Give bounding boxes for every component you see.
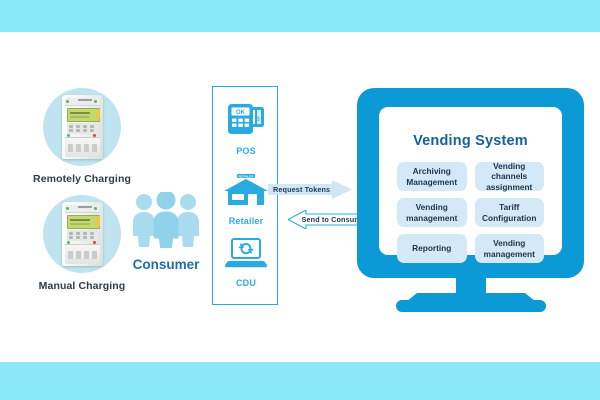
meter-photo-disc: [43, 88, 121, 166]
feature-box[interactable]: Vending channels assignment: [475, 162, 545, 191]
consumer-label: Consumer: [118, 257, 214, 272]
vending-feature-grid: Archiving Management Vending channels as…: [397, 162, 544, 263]
channel-label-pos: POS: [213, 146, 279, 156]
retailer-shop-icon: RETAILER: [222, 173, 270, 209]
feature-box[interactable]: Vending management: [475, 234, 545, 263]
three-people-icon: [129, 192, 203, 248]
consumer-group: Consumer: [118, 192, 214, 272]
feature-box[interactable]: Vending management: [397, 198, 467, 227]
feature-box[interactable]: Tariff Configuration: [475, 198, 545, 227]
meter-caption: Remotely Charging: [22, 173, 142, 185]
feature-box[interactable]: Reporting: [397, 234, 467, 263]
monitor-screen: Vending System Archiving Management Vend…: [379, 107, 562, 255]
electricity-meter-icon: [62, 95, 103, 159]
channel-item-cdu[interactable]: CDU: [213, 235, 279, 288]
svg-text:OK: OK: [236, 110, 246, 116]
monitor-base-cap: [396, 300, 546, 312]
channel-label-cdu: CDU: [213, 278, 279, 288]
channel-label-retailer: Retailer: [213, 216, 279, 226]
top-color-band: [0, 0, 600, 32]
vending-system-monitor: Vending System Archiving Management Vend…: [357, 88, 584, 278]
arrow-request-tokens-label: Request Tokens: [268, 180, 357, 199]
laptop-cdu-icon: [223, 235, 269, 271]
meter-photo-disc: [43, 195, 121, 273]
feature-box[interactable]: Archiving Management: [397, 162, 467, 191]
arrow-send-to-consumer: Send to Consumer: [288, 210, 368, 229]
meter-remotely-charging: Remotely Charging: [22, 88, 142, 185]
svg-text:RETAILER: RETAILER: [239, 174, 255, 178]
bottom-color-band: [0, 362, 600, 400]
pos-terminal-icon: $ OK: [223, 99, 269, 139]
electricity-meter-icon: [62, 202, 103, 266]
vending-system-title: Vending System: [379, 133, 562, 149]
arrow-request-tokens: Request Tokens: [268, 180, 352, 199]
diagram-canvas: Remotely Charging: [0, 0, 600, 400]
channel-item-pos[interactable]: $ OK POS: [213, 99, 279, 156]
meter-caption: Manual Charging: [22, 280, 142, 292]
